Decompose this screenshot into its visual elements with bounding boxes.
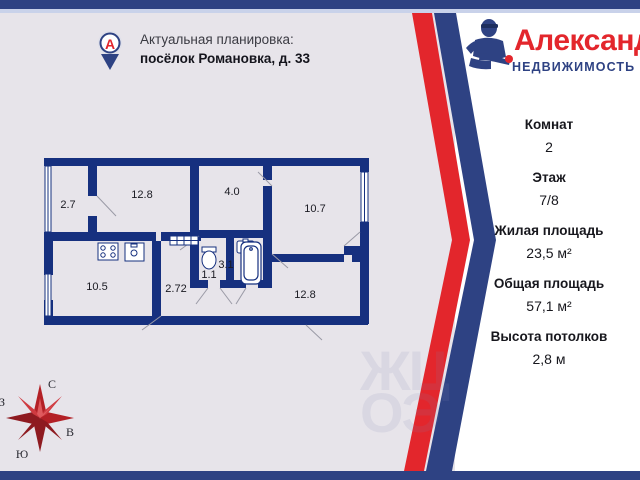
company-logo[interactable]: Александр НЕДВИЖИМОСТЬ [462,12,640,86]
floor-plan: 2.7 12.8 4.0 10.7 10.5 2.72 3.1 1.1 12.8 [30,150,400,350]
compass-west-label: З [0,395,5,409]
label-wc-1-1: 1.1 [201,269,216,281]
toilet-icon [202,247,216,269]
compass-east-label: В [66,425,74,439]
label-hall-2-72: 2.72 [165,283,186,295]
info-value-total-area: 57,1 м² [470,297,628,315]
label-room-12-8-bottom: 12.8 [294,289,315,301]
logo-tagline-text: НЕДВИЖИМОСТЬ [512,60,635,74]
compass-south-label: Ю [16,447,28,461]
header-line-1: Актуальная планировка: [140,30,400,49]
map-pin-a-icon: А [95,30,125,72]
radiator-icon [170,236,198,245]
top-border-bar [0,0,640,9]
stove-icon [98,243,118,260]
info-label-floor: Этаж [470,169,628,187]
info-label-rooms: Комнат [470,116,628,134]
header: А Актуальная планировка: посёлок Романов… [95,28,395,84]
label-bath-3-1: 3.1 [218,259,233,271]
info-value-living-area: 23,5 м² [470,244,628,262]
sink-icon [125,243,144,261]
info-value-floor: 7/8 [470,191,628,209]
plan-walls [44,158,369,325]
label-room-2-7: 2.7 [60,199,75,211]
label-room-12-8-top: 12.8 [131,189,152,201]
label-room-4-0: 4.0 [224,186,239,198]
info-label-ceiling: Высота потолков [470,328,628,346]
info-label-living-area: Жилая площадь [470,222,628,240]
compass-rose: С В Ю З [0,370,110,475]
property-info-list: Комнат 2 Этаж 7/8 Жилая площадь 23,5 м² … [470,116,628,381]
compass-star [6,384,74,452]
info-label-total-area: Общая площадь [470,275,628,293]
svg-text:А: А [105,36,115,52]
info-value-rooms: 2 [470,138,628,156]
label-room-10-7: 10.7 [304,203,325,215]
agent-figure-icon [462,18,514,80]
screenshot-frame: А Актуальная планировка: посёлок Романов… [0,0,640,480]
info-value-ceiling: 2,8 м [470,350,628,368]
logo-brand-text: Александр [514,24,640,58]
compass-north-label: С [48,377,56,391]
bathtub-real [241,242,261,284]
header-line-2: посёлок Романовка, д. 33 [140,49,400,68]
label-room-10-5: 10.5 [86,281,107,293]
header-text-block: Актуальная планировка: посёлок Романовка… [140,30,400,68]
